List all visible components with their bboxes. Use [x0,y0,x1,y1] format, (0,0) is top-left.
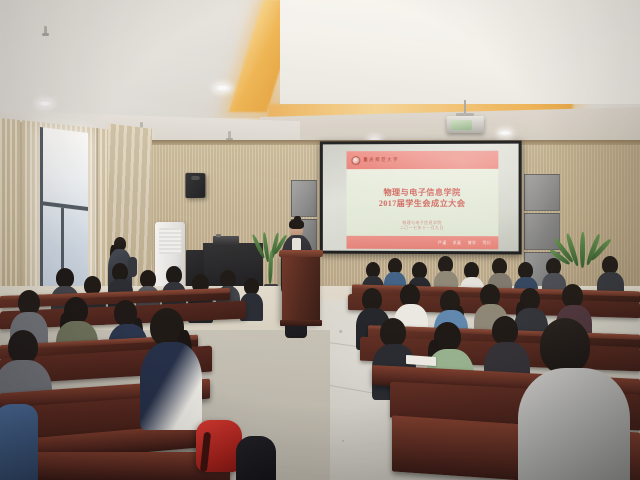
audience-torso [236,436,276,480]
audience-head [540,318,590,374]
slide-title-line2: 2017届学生会成立大会 [347,198,499,209]
projection-surface: 重庆师范大学 物理与电子信息学院 2017届学生会成立大会 物理与电子信息学院 … [323,144,519,252]
slide-title-line1: 物理与电子信息学院 [347,187,499,198]
recessed-downlight [498,130,512,136]
backpack-strap [200,432,211,473]
audience-head [492,316,518,345]
lectern-top [279,250,324,257]
slide-title: 物理与电子信息学院 2017届学生会成立大会 [347,187,499,209]
acoustic-panel [524,174,560,211]
projector-lens [450,120,471,130]
recessed-downlight [214,84,231,92]
audience-torso [140,342,202,430]
acoustic-panel [524,213,560,250]
floor-speck [342,440,344,442]
university-crest-icon [351,156,360,165]
ceiling-inner-bay [280,0,640,104]
floor-speck [339,330,342,333]
wooden-lectern [282,254,320,322]
lecture-hall-photo: 重庆师范大学 物理与电子信息学院 2017届学生会成立大会 物理与电子信息学院 … [0,0,640,480]
slide-header-band: 重庆师范大学 [347,151,499,169]
slide-motto-word: 笃行 [482,240,491,246]
slide-subtitle: 物理与电子信息学院 二〇一七年十一月九日 [347,221,499,232]
audience-head [380,318,406,347]
slide-motto-word: 严谨 [438,240,447,246]
slide-motto-word: 求真 [453,240,462,246]
audience-torso [518,368,630,480]
slide-motto-word: 博学 [468,240,477,246]
slide-footer-band: 严谨 求真 博学 笃行 [347,236,499,250]
recessed-downlight [37,100,53,107]
av-equipment [213,236,239,245]
ceiling-projector [447,116,484,133]
presenter-hair-bun [294,216,301,222]
photographer-arm [128,257,137,277]
presentation-slide: 重庆师范大学 物理与电子信息学院 2017届学生会成立大会 物理与电子信息学院 … [347,151,499,250]
fire-sprinkler-head [44,26,47,35]
acoustic-panel [291,180,317,217]
audience-head [56,268,74,288]
projector-mount-rod [464,100,466,114]
plant-leaf [580,232,585,268]
wall-speaker [185,173,205,198]
slide-subtitle-line2: 二〇一七年十一月九日 [347,226,499,232]
slide-university-name: 重庆师范大学 [363,157,399,163]
lectern-base [280,320,322,326]
audience-torso [0,404,38,480]
ac-grille [159,228,181,254]
fire-sprinkler-head [228,131,231,140]
projection-screen[interactable]: 重庆师范大学 物理与电子信息学院 2017届学生会成立大会 物理与电子信息学院 … [320,141,522,255]
window-mullion [40,201,88,211]
audience-head [8,330,38,364]
